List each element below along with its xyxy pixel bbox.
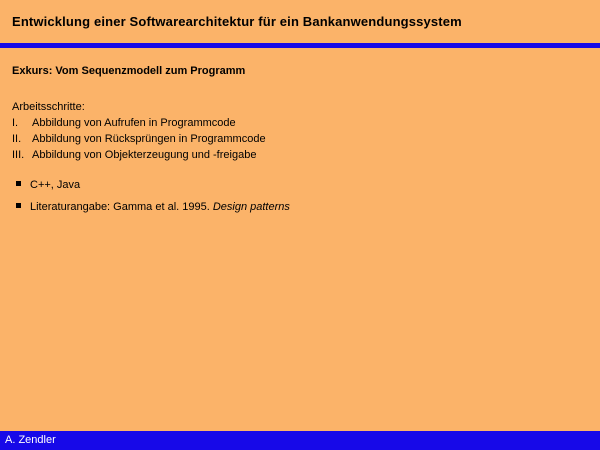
footer-author-label: A. Zendler: [5, 434, 56, 447]
list-item-label: Literaturangabe: Gamma et al. 1995.: [30, 201, 213, 213]
step-number: II.: [12, 131, 32, 147]
numbered-list-item: III.Abbildung von Objekterzeugung und -f…: [12, 147, 572, 163]
title-divider: [0, 43, 600, 48]
bullet-list: C++, Java Literaturangabe: Gamma et al. …: [16, 174, 576, 218]
page-title: Entwicklung einer Softwarearchitektur fü…: [12, 14, 588, 30]
square-bullet-icon: [16, 203, 21, 208]
step-text: Abbildung von Objekterzeugung und -freig…: [32, 149, 256, 161]
step-number: III.: [12, 147, 32, 163]
list-item-label: C++, Java: [30, 179, 80, 191]
list-item: C++, Java: [16, 174, 576, 196]
body-text-block: Arbeitsschritte: I.Abbildung von Aufrufe…: [12, 99, 572, 163]
numbered-list-item: II.Abbildung von Rücksprüngen in Program…: [12, 131, 572, 147]
step-number: I.: [12, 115, 32, 131]
slide-subtitle: Exkurs: Vom Sequenzmodell zum Programm: [12, 64, 245, 78]
list-item: Literaturangabe: Gamma et al. 1995. Desi…: [16, 196, 576, 218]
list-item-citation-title: Design patterns: [213, 201, 290, 213]
presentation-slide: Entwicklung einer Softwarearchitektur fü…: [0, 0, 600, 450]
steps-intro-label: Arbeitsschritte:: [12, 99, 572, 115]
footer-bar: A. Zendler: [0, 431, 600, 450]
square-bullet-icon: [16, 181, 21, 186]
step-text: Abbildung von Rücksprüngen in Programmco…: [32, 133, 266, 145]
step-text: Abbildung von Aufrufen in Programmcode: [32, 117, 236, 129]
numbered-list-item: I.Abbildung von Aufrufen in Programmcode: [12, 115, 572, 131]
